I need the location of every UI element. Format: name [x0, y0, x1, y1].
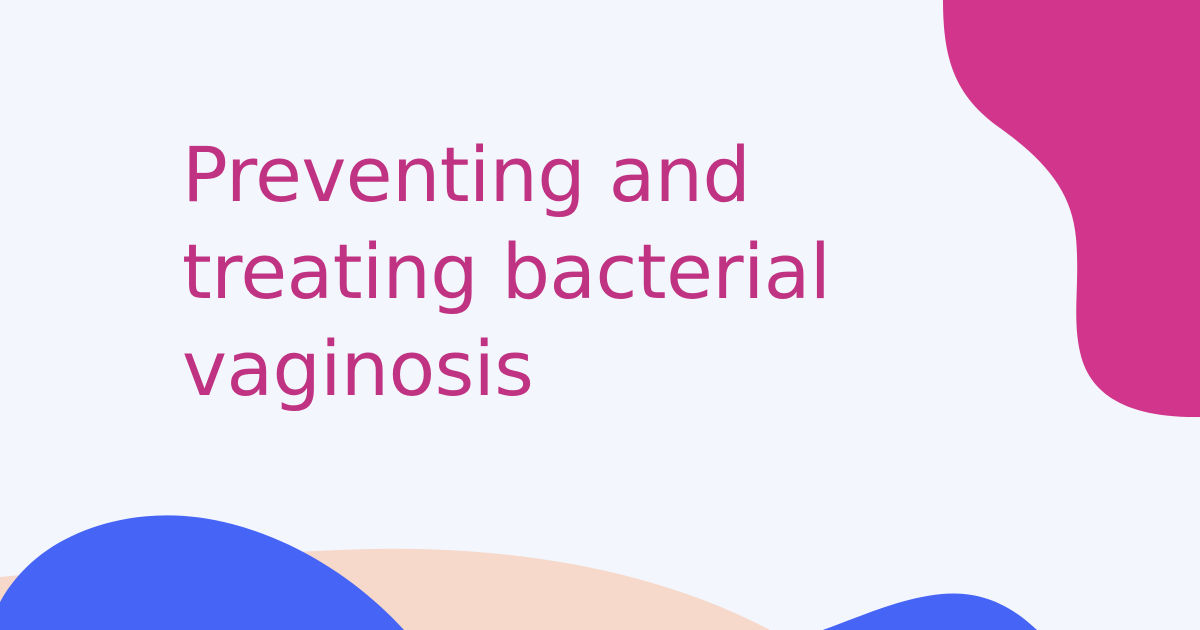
magenta-blob-top-right-shape — [943, 0, 1200, 417]
headline-block: Preventing and treating bacterial vagino… — [182, 126, 842, 417]
peach-wave-bottom-shape — [0, 549, 770, 630]
page-title: Preventing and treating bacterial vagino… — [182, 126, 842, 417]
blue-wave-bottom-right-shape — [820, 593, 1038, 630]
social-share-card: Preventing and treating bacterial vagino… — [0, 0, 1200, 630]
blue-blob-bottom-left-shape — [0, 515, 404, 630]
